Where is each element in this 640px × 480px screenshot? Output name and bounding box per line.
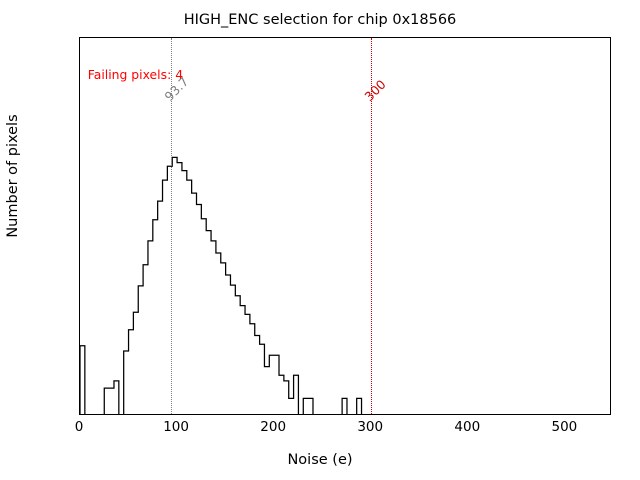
y-axis-minor-tick xyxy=(79,282,80,283)
y-axis-minor-tick xyxy=(610,188,611,189)
y-axis-minor-tick xyxy=(79,69,80,70)
y-axis-minor-tick xyxy=(610,340,611,341)
y-axis-minor-tick xyxy=(610,165,611,166)
y-axis-minor-tick xyxy=(610,223,611,224)
y-axis-minor-tick xyxy=(79,317,80,318)
x-axis-minor-tick xyxy=(488,414,489,415)
y-axis-minor-tick xyxy=(79,302,80,303)
y-axis-tick xyxy=(610,124,611,125)
y-axis-minor-tick xyxy=(610,137,611,138)
y-axis-minor-tick xyxy=(79,200,80,201)
x-axis-minor-tick xyxy=(604,414,605,415)
x-axis-tick xyxy=(177,414,178,415)
y-axis-minor-tick xyxy=(610,363,611,364)
y-axis-minor-tick xyxy=(610,196,611,197)
failing-pixels-annotation: Failing pixels: 4 xyxy=(88,67,183,82)
y-axis-minor-tick xyxy=(79,323,80,324)
x-axis-label: Noise (e) xyxy=(0,452,640,468)
x-axis-minor-tick xyxy=(527,37,528,38)
x-axis-tick-label: 400 xyxy=(454,419,480,435)
y-axis-minor-tick xyxy=(610,302,611,303)
y-axis-tick xyxy=(79,66,80,67)
x-axis-minor-tick xyxy=(352,37,353,38)
x-axis-minor-tick xyxy=(449,37,450,38)
y-axis-minor-tick xyxy=(79,244,80,245)
x-axis-tick xyxy=(371,414,372,415)
y-axis-minor-tick xyxy=(610,250,611,251)
y-axis-minor-tick xyxy=(610,323,611,324)
x-axis-minor-tick xyxy=(294,37,295,38)
y-axis-minor-tick xyxy=(79,271,80,272)
y-axis-minor-tick xyxy=(610,89,611,90)
x-axis-minor-tick xyxy=(507,414,508,415)
x-axis-tick-label: 300 xyxy=(357,419,383,435)
y-axis-minor-tick xyxy=(79,155,80,156)
y-axis-minor-tick xyxy=(79,192,80,193)
y-axis-minor-tick xyxy=(79,360,80,361)
x-axis-tick-label: 500 xyxy=(552,419,578,435)
y-axis-minor-tick xyxy=(610,375,611,376)
x-axis-minor-tick xyxy=(313,37,314,38)
y-axis-minor-tick xyxy=(610,381,611,382)
x-axis-minor-tick xyxy=(235,37,236,38)
y-axis-minor-tick xyxy=(610,264,611,265)
y-axis-minor-tick xyxy=(79,250,80,251)
y-axis-tick xyxy=(610,66,611,67)
y-axis-minor-tick xyxy=(79,165,80,166)
y-axis-minor-tick xyxy=(610,83,611,84)
x-axis-minor-tick xyxy=(138,414,139,415)
x-axis-tick xyxy=(80,37,81,38)
y-axis-minor-tick xyxy=(610,271,611,272)
y-axis-minor-tick xyxy=(79,96,80,97)
y-axis-minor-tick xyxy=(79,137,80,138)
y-axis-minor-tick xyxy=(79,388,80,389)
y-axis-minor-tick xyxy=(79,258,80,259)
y-axis-tick xyxy=(79,358,80,359)
y-axis-minor-tick xyxy=(79,196,80,197)
y-axis-minor-tick xyxy=(79,308,80,309)
y-axis-minor-tick xyxy=(610,360,611,361)
y-axis-minor-tick xyxy=(79,367,80,368)
y-axis-minor-tick xyxy=(610,133,611,134)
y-axis-minor-tick xyxy=(79,142,80,143)
x-axis-tick xyxy=(274,414,275,415)
y-axis-minor-tick xyxy=(610,282,611,283)
y-axis-tick xyxy=(79,124,80,125)
y-axis-minor-tick xyxy=(79,330,80,331)
x-axis-minor-tick xyxy=(449,414,450,415)
x-axis-tick xyxy=(80,414,81,415)
y-axis-minor-tick xyxy=(79,130,80,131)
y-axis-minor-tick xyxy=(610,312,611,313)
y-axis-minor-tick xyxy=(79,371,80,372)
x-axis-minor-tick xyxy=(235,414,236,415)
y-axis-minor-tick xyxy=(79,398,80,399)
x-axis-minor-tick xyxy=(158,37,159,38)
x-axis-tick xyxy=(274,37,275,38)
x-axis-minor-tick xyxy=(255,414,256,415)
x-axis-minor-tick xyxy=(546,37,547,38)
y-axis-minor-tick xyxy=(610,371,611,372)
y-axis-minor-tick xyxy=(79,72,80,73)
y-axis-minor-tick xyxy=(610,308,611,309)
x-axis-minor-tick xyxy=(585,414,586,415)
y-axis-minor-tick xyxy=(610,192,611,193)
x-axis-minor-tick xyxy=(546,414,547,415)
y-axis-minor-tick xyxy=(610,317,611,318)
y-axis-minor-tick xyxy=(610,254,611,255)
y-axis-tick xyxy=(79,299,80,300)
y-axis-minor-tick xyxy=(79,48,80,49)
y-axis-minor-tick xyxy=(79,213,80,214)
y-axis-tick xyxy=(79,241,80,242)
y-axis-minor-tick xyxy=(610,258,611,259)
plot-area xyxy=(79,37,611,415)
x-axis-minor-tick xyxy=(410,414,411,415)
x-axis-tick-label: 100 xyxy=(163,419,189,435)
y-axis-minor-tick xyxy=(79,89,80,90)
x-axis-minor-tick xyxy=(119,37,120,38)
x-axis-minor-tick xyxy=(255,37,256,38)
histogram-step-line xyxy=(80,157,493,415)
x-axis-minor-tick xyxy=(216,414,217,415)
y-axis-minor-tick xyxy=(610,367,611,368)
y-axis-minor-tick xyxy=(610,38,611,39)
y-axis-minor-tick xyxy=(610,155,611,156)
y-axis-minor-tick xyxy=(79,83,80,84)
y-axis-minor-tick xyxy=(79,254,80,255)
x-axis-minor-tick xyxy=(507,37,508,38)
y-axis-tick xyxy=(610,183,611,184)
y-axis-minor-tick xyxy=(79,363,80,364)
x-axis-minor-tick xyxy=(332,37,333,38)
x-axis-tick xyxy=(565,37,566,38)
y-axis-minor-tick xyxy=(79,188,80,189)
x-axis-minor-tick xyxy=(429,37,430,38)
x-axis-tick xyxy=(468,37,469,38)
y-axis-minor-tick xyxy=(79,223,80,224)
x-axis-minor-tick xyxy=(585,37,586,38)
x-axis-minor-tick xyxy=(294,414,295,415)
x-axis-minor-tick xyxy=(604,37,605,38)
y-axis-minor-tick xyxy=(79,185,80,186)
y-axis-minor-tick xyxy=(79,312,80,313)
y-axis-minor-tick xyxy=(79,375,80,376)
y-axis-minor-tick xyxy=(610,142,611,143)
x-axis-tick-label: 0 xyxy=(75,419,84,435)
x-axis-minor-tick xyxy=(352,414,353,415)
y-axis-minor-tick xyxy=(79,107,80,108)
x-axis-tick-label: 200 xyxy=(260,419,286,435)
x-axis-minor-tick xyxy=(158,414,159,415)
y-axis-minor-tick xyxy=(610,69,611,70)
y-axis-tick xyxy=(79,183,80,184)
y-axis-minor-tick xyxy=(79,38,80,39)
page-title: HIGH_ENC selection for chip 0x18566 xyxy=(0,12,640,28)
y-axis-minor-tick xyxy=(610,79,611,80)
y-axis-minor-tick xyxy=(79,206,80,207)
histogram-series xyxy=(80,38,611,415)
y-axis-minor-tick xyxy=(610,388,611,389)
y-axis-minor-tick xyxy=(610,398,611,399)
y-axis-minor-tick xyxy=(79,127,80,128)
x-axis-minor-tick xyxy=(196,37,197,38)
figure: HIGH_ENC selection for chip 0x18566 Numb… xyxy=(0,0,640,480)
x-axis-minor-tick xyxy=(196,414,197,415)
y-axis-minor-tick xyxy=(610,147,611,148)
x-axis-minor-tick xyxy=(488,37,489,38)
y-axis-tick xyxy=(610,241,611,242)
y-axis-minor-tick xyxy=(79,75,80,76)
y-axis-minor-tick xyxy=(79,305,80,306)
y-axis-minor-tick xyxy=(79,79,80,80)
y-axis-label: Number of pixels xyxy=(5,0,21,365)
x-axis-minor-tick xyxy=(527,414,528,415)
y-axis-minor-tick xyxy=(79,247,80,248)
y-axis-minor-tick xyxy=(610,200,611,201)
y-axis-minor-tick xyxy=(610,185,611,186)
x-axis-minor-tick xyxy=(313,414,314,415)
y-axis-minor-tick xyxy=(610,75,611,76)
y-axis-tick xyxy=(610,299,611,300)
y-axis-minor-tick xyxy=(610,72,611,73)
x-axis-minor-tick xyxy=(429,414,430,415)
y-axis-minor-tick xyxy=(610,127,611,128)
y-axis-minor-tick xyxy=(79,133,80,134)
x-axis-minor-tick xyxy=(332,414,333,415)
x-axis-minor-tick xyxy=(119,414,120,415)
x-axis-tick xyxy=(468,414,469,415)
y-axis-minor-tick xyxy=(79,340,80,341)
y-axis-minor-tick xyxy=(610,305,611,306)
y-axis-minor-tick xyxy=(610,213,611,214)
x-axis-minor-tick xyxy=(391,414,392,415)
x-axis-tick xyxy=(565,414,566,415)
x-axis-minor-tick xyxy=(99,37,100,38)
y-axis-minor-tick xyxy=(79,264,80,265)
y-axis-minor-tick xyxy=(610,107,611,108)
y-axis-minor-tick xyxy=(610,244,611,245)
y-axis-minor-tick xyxy=(610,48,611,49)
y-axis-minor-tick xyxy=(610,330,611,331)
x-axis-tick xyxy=(177,37,178,38)
x-axis-minor-tick xyxy=(99,414,100,415)
y-axis-minor-tick xyxy=(610,206,611,207)
y-axis-minor-tick xyxy=(610,130,611,131)
y-axis-minor-tick xyxy=(79,381,80,382)
x-axis-minor-tick xyxy=(216,37,217,38)
y-axis-minor-tick xyxy=(79,147,80,148)
x-axis-minor-tick xyxy=(410,37,411,38)
y-axis-minor-tick xyxy=(610,247,611,248)
y-axis-minor-tick xyxy=(610,96,611,97)
x-axis-minor-tick xyxy=(391,37,392,38)
y-axis-tick xyxy=(610,358,611,359)
x-axis-minor-tick xyxy=(138,37,139,38)
